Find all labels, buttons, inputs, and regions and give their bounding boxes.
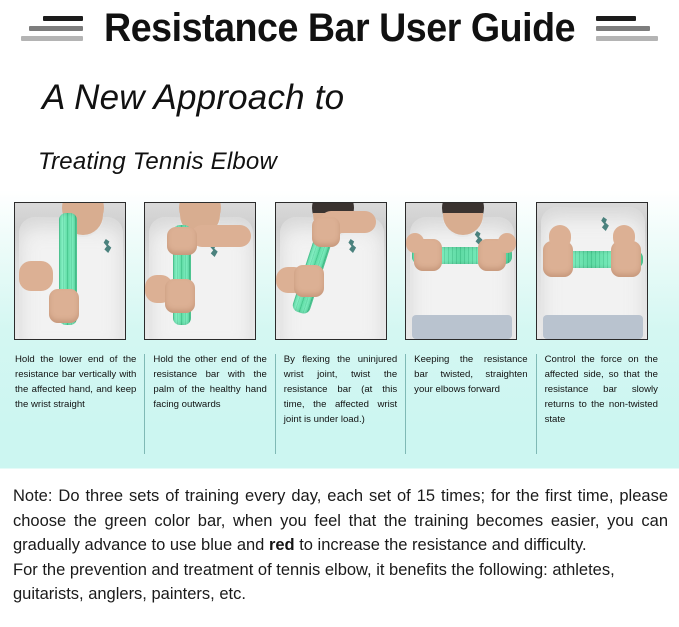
step-item: Control the force on the affected side, … [536,202,666,448]
step-photo-1 [14,202,126,340]
guide-page: Resistance Bar User Guide A New Approach… [0,0,679,627]
page-title: Resistance Bar User Guide [104,6,575,50]
note-paragraph-2: For the prevention and treatment of tenn… [13,558,668,607]
step-item: Hold the lower end of the resistance bar… [14,202,144,448]
note-highlight-red: red [269,536,295,554]
step-caption-3: By flexing the uninjured wrist joint, tw… [275,352,405,448]
step-caption-4: Keeping the resistance bar twisted, stra… [405,352,535,448]
note-text-part-2: to increase the resistance and difficult… [295,536,587,554]
step-caption-5: Control the force on the affected side, … [536,352,666,448]
subtitle-line-2: Treating Tennis Elbow [38,148,277,176]
note-paragraph-1: Note: Do three sets of training every da… [13,484,668,558]
title-decoration-left-icon [21,16,83,41]
steps-strip: Hold the lower end of the resistance bar… [14,202,666,448]
header: Resistance Bar User Guide [0,2,679,54]
step-item: Keeping the resistance bar twisted, stra… [405,202,535,448]
step-photo-2 [144,202,256,340]
step-photo-4 [405,202,517,340]
step-photo-3 [275,202,387,340]
step-photo-5 [536,202,648,340]
title-decoration-right-icon [596,16,658,41]
step-caption-2: Hold the other end of the resistance bar… [144,352,274,448]
step-item: By flexing the uninjured wrist joint, tw… [275,202,405,448]
note-section: Note: Do three sets of training every da… [13,484,668,607]
step-caption-1: Hold the lower end of the resistance bar… [14,352,144,448]
subtitle-line-1: A New Approach to [42,78,344,118]
step-item: Hold the other end of the resistance bar… [144,202,274,448]
